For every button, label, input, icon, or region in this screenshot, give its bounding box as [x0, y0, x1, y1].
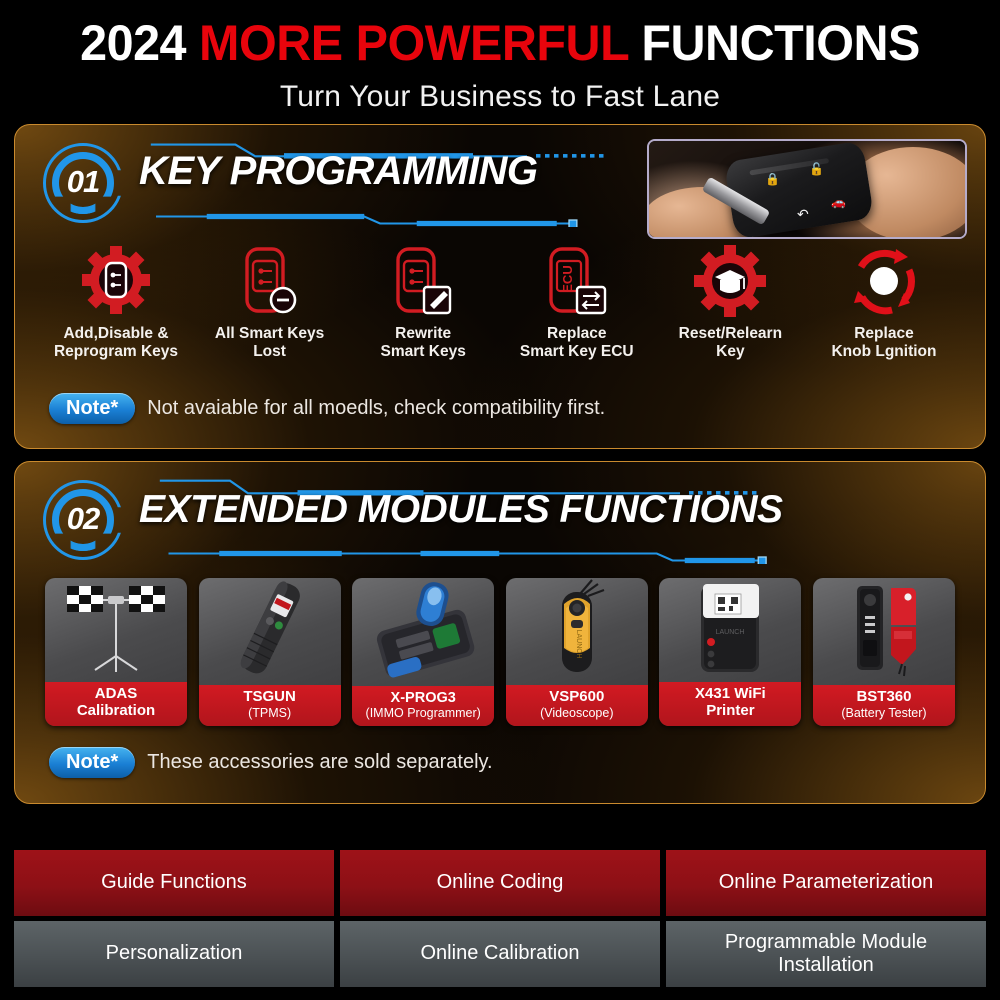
gear-graduation-icon	[692, 243, 768, 319]
note-badge: Note*	[49, 393, 135, 424]
accessory-card-row: ADAS Calibration	[15, 578, 985, 726]
note-bar-01: Note* Not avaiable for all moedls, check…	[49, 393, 605, 424]
title-year: 2024	[80, 15, 186, 71]
feature-replace-smart-key-ecu: ECU Replace Smart Key ECU	[502, 243, 652, 362]
card-sub: (Videoscope)	[508, 706, 646, 720]
adas-calibration-frame-image	[45, 578, 187, 682]
key-pencil-icon	[392, 243, 454, 319]
key-ecu-swap-icon: ECU	[545, 243, 609, 319]
section-key-programming: 01 KEY PROGRAMMING	[14, 124, 986, 449]
panic-icon: ↶	[797, 207, 809, 221]
card-tsgun[interactable]: TSGUN (TPMS)	[199, 578, 341, 726]
section-01-header: 01 KEY PROGRAMMING	[15, 125, 985, 237]
note-badge: Note*	[49, 747, 135, 778]
card-bst360[interactable]: BST360 (Battery Tester)	[813, 578, 955, 726]
infographic-page: 2024 MORE POWERFUL FUNCTIONS Turn Your B…	[0, 0, 1000, 1000]
function-cell-online-calibration[interactable]: Online Calibration	[340, 921, 660, 987]
svg-text:LAUNCH: LAUNCH	[575, 630, 582, 659]
svg-text:ECU: ECU	[560, 265, 575, 292]
immo-programmer-image	[352, 578, 494, 686]
note-text: These accessories are sold separately.	[147, 751, 492, 774]
battery-tester-image	[813, 578, 955, 685]
card-caption: BST360 (Battery Tester)	[813, 685, 955, 726]
lock-icon: 🔒	[765, 173, 780, 185]
title-highlight: MORE POWERFUL	[199, 15, 628, 71]
feature-label: Add,Disable & Reprogram Keys	[54, 325, 178, 362]
feature-add-disable-reprogram: Add,Disable & Reprogram Keys	[41, 243, 191, 362]
card-caption: VSP600 (Videoscope)	[506, 685, 648, 726]
card-name: BST360	[815, 689, 953, 706]
card-sub: Calibration	[47, 703, 185, 720]
card-x431-wifi-printer[interactable]: LAUNCH X431 WiFi Printer	[659, 578, 801, 726]
section-02-header: 02 EXTENDED MODULES FUNCTIONS	[15, 462, 985, 574]
page-header: 2024 MORE POWERFUL FUNCTIONS Turn Your B…	[0, 0, 1000, 114]
card-sub: (IMMO Programmer)	[354, 706, 492, 720]
card-name: X431 WiFi	[661, 686, 799, 703]
page-subtitle: Turn Your Business to Fast Lane	[0, 80, 1000, 114]
feature-label: Replace Smart Key ECU	[520, 325, 634, 362]
card-caption: ADAS Calibration	[45, 682, 187, 726]
tech-line-bottom-02	[123, 550, 823, 564]
card-name: VSP600	[508, 689, 646, 706]
feature-label: Reset/Relearn Key	[679, 325, 782, 362]
feature-label: All Smart Keys Lost	[215, 325, 324, 362]
function-cell-online-coding[interactable]: Online Coding	[340, 850, 660, 916]
card-name: TSGUN	[201, 689, 339, 706]
tpms-tool-image	[199, 578, 341, 685]
note-text: Not avaiable for all moedls, check compa…	[147, 397, 605, 420]
card-caption: X-PROG3 (IMMO Programmer)	[352, 686, 494, 726]
feature-reset-relearn-key: Reset/Relearn Key	[655, 243, 805, 362]
note-bar-02: Note* These accessories are sold separat…	[49, 747, 493, 778]
wifi-printer-image: LAUNCH	[659, 578, 801, 682]
card-vsp600[interactable]: LAUNCH VSP600 (Videoscope)	[506, 578, 648, 726]
card-sub: (TPMS)	[201, 706, 339, 720]
key-fob-photo: 🔒 🔓 🚗 ↶	[647, 139, 967, 239]
card-sub: Printer	[661, 703, 799, 720]
card-sub: (Battery Tester)	[815, 706, 953, 720]
tech-line-bottom-01	[123, 213, 623, 227]
card-name: X-PROG3	[354, 690, 492, 706]
svg-text:LAUNCH: LAUNCH	[716, 629, 745, 636]
function-grid: Guide Functions Online Coding Online Par…	[14, 850, 986, 987]
card-adas-calibration[interactable]: ADAS Calibration	[45, 578, 187, 726]
section-number-01: 01	[43, 143, 123, 223]
section-title-01: KEY PROGRAMMING	[139, 149, 537, 194]
section-number-badge-02: 02	[43, 480, 123, 560]
unlock-icon: 🔓	[809, 163, 824, 175]
section-extended-modules: 02 EXTENDED MODULES FUNCTIONS	[14, 461, 986, 804]
videoscope-image: LAUNCH	[506, 578, 648, 685]
section-title-02: EXTENDED MODULES FUNCTIONS	[139, 488, 783, 532]
card-name: ADAS	[47, 686, 185, 703]
function-cell-online-parameterization[interactable]: Online Parameterization	[666, 850, 986, 916]
section-number-badge-01: 01	[43, 143, 123, 223]
section-number-02: 02	[43, 480, 123, 560]
card-x-prog3[interactable]: X-PROG3 (IMMO Programmer)	[352, 578, 494, 726]
trunk-icon: 🚗	[831, 196, 846, 208]
function-cell-programmable-module[interactable]: Programmable Module Installation	[666, 921, 986, 987]
key-minus-icon	[239, 243, 301, 319]
feature-replace-knob-ignition: Replace Knob Lgnition	[809, 243, 959, 362]
function-cell-guide-functions[interactable]: Guide Functions	[14, 850, 334, 916]
rotate-knob-icon	[848, 243, 920, 319]
page-title: 2024 MORE POWERFUL FUNCTIONS	[15, 18, 985, 68]
feature-label: Replace Knob Lgnition	[831, 325, 936, 362]
title-tail: FUNCTIONS	[641, 15, 920, 71]
card-caption: X431 WiFi Printer	[659, 682, 801, 726]
function-cell-personalization[interactable]: Personalization	[14, 921, 334, 987]
feature-rewrite-smart-keys: Rewrite Smart Keys	[348, 243, 498, 362]
gear-key-icon	[79, 243, 153, 319]
feature-all-keys-lost: All Smart Keys Lost	[195, 243, 345, 362]
key-feature-row: Add,Disable & Reprogram Keys All Smart K…	[15, 243, 985, 362]
card-caption: TSGUN (TPMS)	[199, 685, 341, 726]
feature-label: Rewrite Smart Keys	[381, 325, 466, 362]
